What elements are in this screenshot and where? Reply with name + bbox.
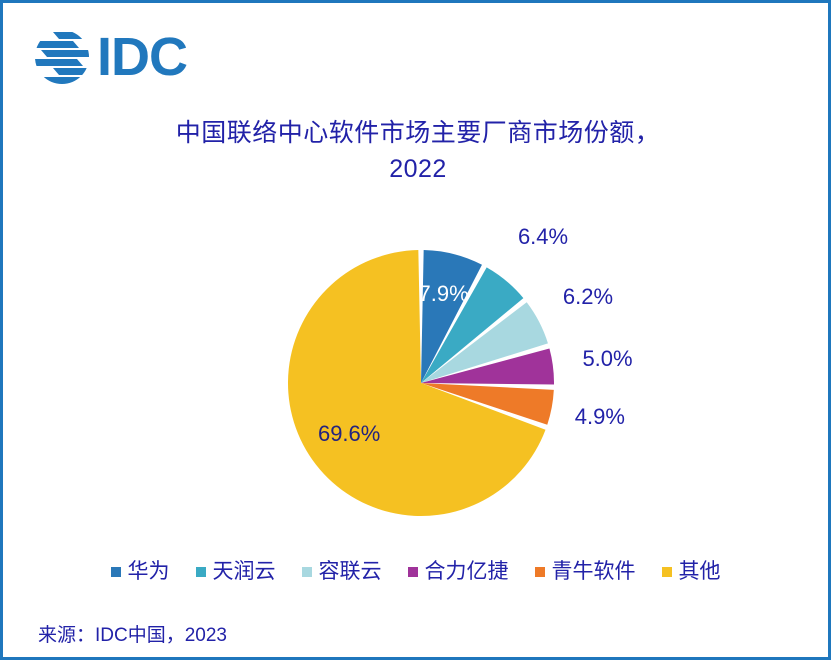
- idc-globe-icon: [33, 28, 91, 86]
- pie-chart: 7.9%6.4%6.2%5.0%4.9%69.6%: [3, 228, 828, 538]
- legend-swatch: [408, 567, 418, 577]
- legend-swatch: [111, 567, 121, 577]
- pie-slice-label: 7.9%: [419, 281, 469, 307]
- legend-item[interactable]: 其他: [662, 561, 721, 582]
- legend-swatch: [662, 567, 672, 577]
- pie-slice-label: 5.0%: [582, 346, 632, 372]
- legend-swatch: [196, 567, 206, 577]
- legend-item[interactable]: 合力亿捷: [408, 561, 509, 582]
- legend-label: 天润云: [213, 561, 276, 582]
- pie-slice-label: 69.6%: [318, 421, 380, 447]
- legend-label: 青牛软件: [552, 561, 636, 582]
- legend-swatch: [535, 567, 545, 577]
- legend-label: 其他: [679, 561, 721, 582]
- legend-item[interactable]: 华为: [111, 561, 170, 582]
- legend-item[interactable]: 青牛软件: [535, 561, 636, 582]
- idc-logo: IDC: [33, 28, 187, 86]
- chart-legend: 华为天润云容联云合力亿捷青牛软件其他: [3, 561, 828, 582]
- pie-slice-label: 6.4%: [518, 224, 568, 250]
- pie-slice-label: 4.9%: [575, 404, 625, 430]
- pie-slice-label: 6.2%: [563, 284, 613, 310]
- legend-label: 容联云: [319, 561, 382, 582]
- legend-item[interactable]: 天润云: [196, 561, 276, 582]
- chart-page: IDC 中国联络中心软件市场主要厂商市场份额， 2022 7.9%6.4%6.2…: [0, 0, 831, 660]
- idc-wordmark: IDC: [97, 30, 187, 84]
- title-line-1: 中国联络中心软件市场主要厂商市场份额，: [73, 115, 763, 151]
- legend-swatch: [302, 567, 312, 577]
- page-title: 中国联络中心软件市场主要厂商市场份额， 2022: [73, 115, 763, 188]
- legend-label: 合力亿捷: [425, 561, 509, 582]
- legend-item[interactable]: 容联云: [302, 561, 382, 582]
- title-line-2: 2022: [73, 151, 763, 187]
- pie-chart-svg: [3, 228, 828, 538]
- legend-label: 华为: [128, 561, 170, 582]
- source-note: 来源：IDC中国，2023: [38, 620, 227, 647]
